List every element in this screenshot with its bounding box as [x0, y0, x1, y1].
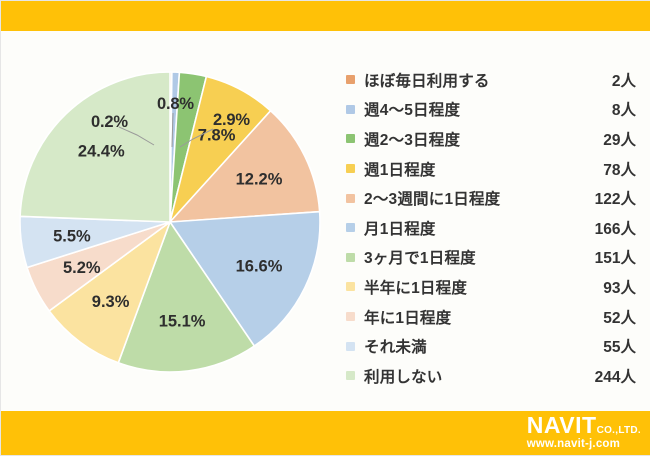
legend-swatch-icon: [346, 194, 355, 203]
legend-label: 2〜3週間に1日程度: [364, 187, 500, 209]
legend-row[interactable]: 2〜3週間に1日程度122人: [346, 183, 638, 213]
pie-outside-label-1: 0.8%: [157, 95, 194, 114]
navit-logo: NAVITCO.,LTD. www.navit-j.com: [527, 414, 641, 451]
legend-count: 2人: [612, 69, 638, 91]
chart-legend: ほぼ毎日利用する2人週4〜5日程度8人週2〜3日程度29人週1日程度78人2〜3…: [346, 65, 638, 391]
legend-label: 月1日程度: [364, 217, 436, 239]
legend-label: ほぼ毎日利用する: [364, 69, 490, 91]
legend-count: 122人: [595, 187, 638, 209]
legend-count: 93人: [603, 276, 638, 298]
legend-count: 166人: [595, 217, 638, 239]
legend-label: 年に1日程度: [364, 306, 451, 328]
legend-swatch-icon: [346, 282, 355, 291]
pie-chart: 7.8%12.2%16.6%15.1%9.3%5.2%5.5%24.4% 0.2…: [15, 67, 325, 377]
legend-swatch-icon: [346, 105, 355, 114]
top-accent-band: [1, 1, 650, 31]
legend-row[interactable]: 利用しない244人: [346, 361, 638, 391]
pie-outside-label-0: 0.2%: [91, 113, 128, 132]
logo-wordmark: NAVITCO.,LTD.: [527, 414, 641, 437]
legend-swatch-icon: [346, 312, 355, 321]
legend-label: 利用しない: [364, 365, 443, 387]
legend-label: 3ヶ月で1日程度: [364, 246, 476, 268]
legend-row[interactable]: それ未満55人: [346, 331, 638, 361]
legend-row[interactable]: 週1日程度78人: [346, 154, 638, 184]
pie-outside-label-2: 2.9%: [213, 111, 250, 130]
legend-row[interactable]: 3ヶ月で1日程度151人: [346, 243, 638, 273]
legend-count: 244人: [595, 365, 638, 387]
legend-count: 55人: [603, 335, 638, 357]
legend-swatch-icon: [346, 253, 355, 262]
legend-count: 52人: [603, 306, 638, 328]
legend-label: 週2〜3日程度: [364, 128, 460, 150]
legend-swatch-icon: [346, 134, 355, 143]
legend-row[interactable]: 週4〜5日程度8人: [346, 95, 638, 125]
logo-name: NAVIT: [527, 412, 597, 438]
legend-label: 週1日程度: [364, 158, 436, 180]
logo-suffix: CO.,LTD.: [597, 425, 641, 436]
legend-swatch-icon: [346, 223, 355, 232]
legend-row[interactable]: 半年に1日程度93人: [346, 272, 638, 302]
legend-row[interactable]: 月1日程度166人: [346, 213, 638, 243]
legend-label: 半年に1日程度: [364, 276, 467, 298]
legend-label: それ未満: [364, 335, 427, 357]
bottom-accent-band: NAVITCO.,LTD. www.navit-j.com: [1, 411, 650, 455]
legend-count: 29人: [603, 128, 638, 150]
legend-count: 8人: [612, 98, 638, 120]
legend-swatch-icon: [346, 342, 355, 351]
legend-row[interactable]: 年に1日程度52人: [346, 302, 638, 332]
slide-page: 7.8%12.2%16.6%15.1%9.3%5.2%5.5%24.4% 0.2…: [0, 0, 650, 456]
legend-row[interactable]: 週2〜3日程度29人: [346, 124, 638, 154]
chart-canvas: 7.8%12.2%16.6%15.1%9.3%5.2%5.5%24.4% 0.2…: [1, 31, 650, 413]
logo-url: www.navit-j.com: [527, 439, 641, 451]
legend-label: 週4〜5日程度: [364, 98, 460, 120]
legend-count: 151人: [595, 246, 638, 268]
legend-count: 78人: [603, 158, 638, 180]
legend-swatch-icon: [346, 371, 355, 380]
legend-swatch-icon: [346, 75, 355, 84]
legend-row[interactable]: ほぼ毎日利用する2人: [346, 65, 638, 95]
legend-swatch-icon: [346, 164, 355, 173]
